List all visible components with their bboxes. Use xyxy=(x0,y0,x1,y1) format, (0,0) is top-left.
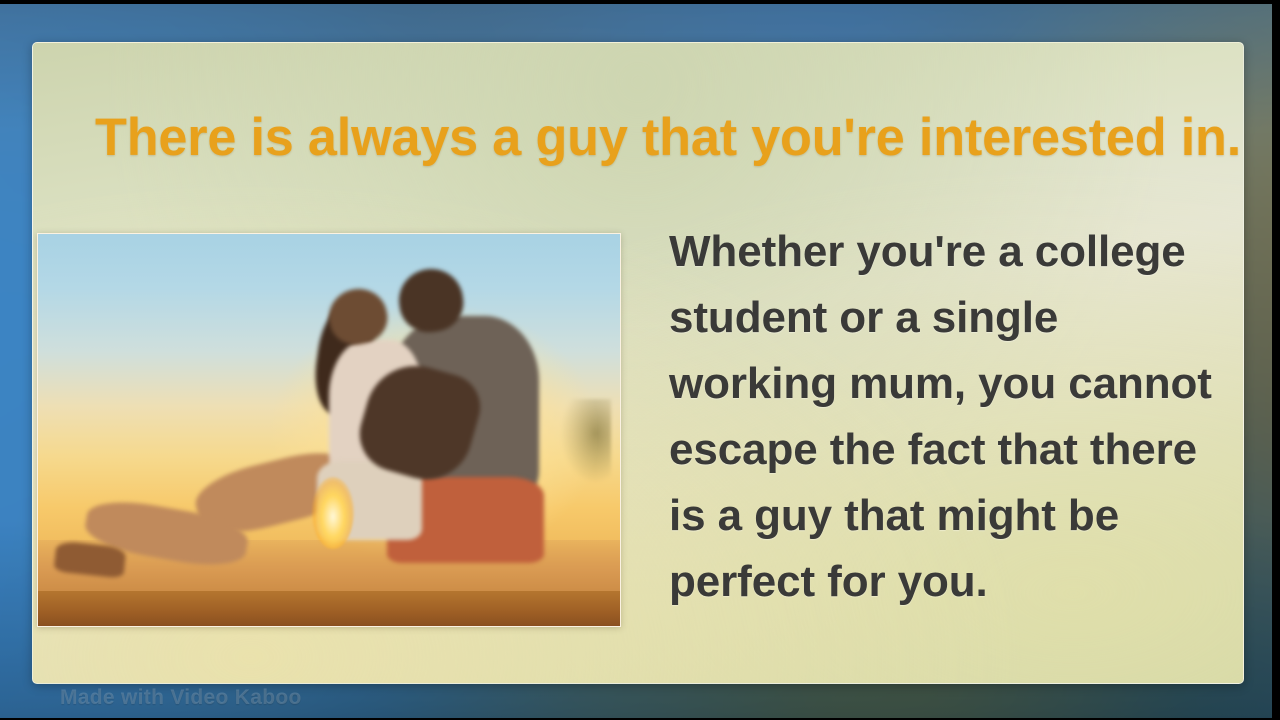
photo-frame xyxy=(37,233,621,627)
content-card: There is always a guy that you're intere… xyxy=(32,42,1244,684)
slide-stage: There is always a guy that you're intere… xyxy=(0,0,1280,720)
body-paragraph: Whether you're a college student or a si… xyxy=(669,219,1229,615)
sun-flare xyxy=(312,477,354,549)
headline-text: There is always a guy that you're intere… xyxy=(95,111,1169,165)
letterbox-bar-top xyxy=(0,0,1280,4)
beach-couple-photo xyxy=(38,234,620,626)
letterbox-bar-right xyxy=(1272,0,1280,720)
stone-ledge xyxy=(38,591,620,626)
